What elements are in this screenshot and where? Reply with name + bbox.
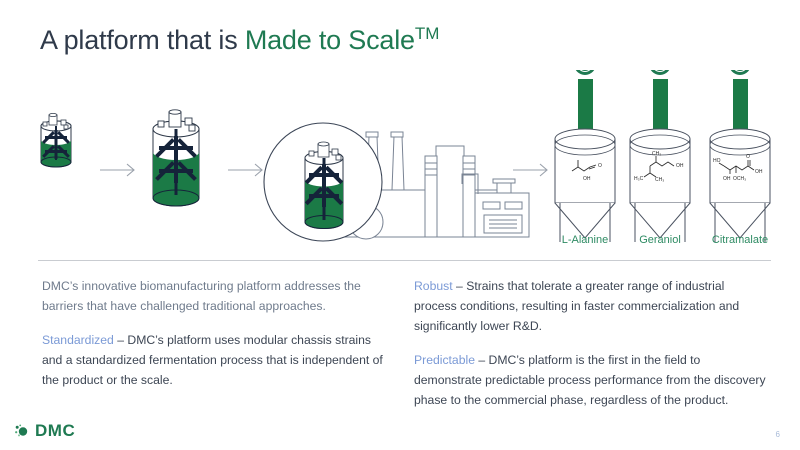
molecule-label-oh-g: OH	[676, 163, 684, 169]
molecule-label-ohoch3: OH	[723, 176, 731, 182]
molecule-label-h3c: H₃C	[634, 176, 644, 182]
dmc-wordmark: DMC	[35, 422, 75, 439]
molecule-label-o-c: O	[746, 154, 750, 160]
coin-icon-2: $	[649, 70, 671, 75]
slide-canvas: A platform that is Made to ScaleTM	[0, 0, 800, 450]
title-dark-part: A platform that is	[40, 25, 238, 55]
svg-text:$: $	[582, 70, 588, 71]
robust-dash: –	[453, 279, 467, 293]
silo-label-1: L-Alanine	[562, 234, 608, 246]
robust-paragraph: Robust – Strains that tolerate a greater…	[414, 276, 766, 336]
predictable-label: Predictable	[414, 353, 475, 367]
standardized-label: Standardized	[42, 333, 114, 347]
arrow-1-icon	[100, 164, 134, 176]
molecule-label-oh: OH	[583, 176, 591, 182]
magnifier-bioreactor-icon	[264, 123, 382, 241]
molecule-label-ch3-a: CH₃	[652, 151, 661, 157]
process-diagram: $ O OH L-Alanine	[0, 70, 800, 255]
molecule-label-ch3-b: CH₃	[655, 177, 664, 183]
svg-text:$: $	[737, 70, 743, 71]
predictable-paragraph: Predictable – DMC’s platform is the firs…	[414, 350, 766, 410]
molecule-label-ho: HO	[713, 158, 721, 164]
standardized-dash: –	[114, 333, 128, 347]
product-silo-l-alanine: $ O OH L-Alanine	[555, 70, 615, 246]
robust-label: Robust	[414, 279, 453, 293]
standardized-paragraph: Standardized – DMC’s platform uses modul…	[42, 330, 392, 390]
coin-icon-3: $	[729, 70, 751, 75]
trademark-symbol: TM	[415, 24, 440, 43]
small-bioreactor-icon	[41, 113, 71, 167]
molecule-label-och3: OCH₃	[733, 176, 746, 182]
svg-text:$: $	[657, 70, 663, 71]
silo-label-3: Citramalate	[712, 234, 768, 246]
body-column-left: DMC’s innovative biomanufacturing platfo…	[42, 276, 392, 390]
product-silo-citramalate: $ HO O	[710, 70, 770, 246]
section-divider	[38, 260, 771, 261]
page-title: A platform that is Made to ScaleTM	[40, 24, 439, 56]
dmc-logo: DMC	[14, 422, 75, 439]
large-bioreactor-icon	[153, 110, 199, 206]
title-green-part: Made to Scale	[245, 25, 415, 55]
silo-label-2: Geraniol	[639, 234, 681, 246]
page-number: 6	[776, 430, 780, 439]
molecule-label-oh-c: OH	[755, 169, 763, 175]
molecule-label-o: O	[598, 163, 602, 169]
coin-icon-1: $	[574, 70, 596, 75]
product-silo-geraniol: $ CH₃ OH H₃C C	[630, 70, 690, 246]
predictable-dash: –	[475, 353, 489, 367]
dmc-logo-mark-icon	[14, 423, 30, 439]
intro-paragraph: DMC’s innovative biomanufacturing platfo…	[42, 276, 392, 316]
arrow-2-icon	[228, 164, 262, 176]
arrow-3-icon	[513, 164, 547, 176]
body-column-right: Robust – Strains that tolerate a greater…	[414, 276, 766, 410]
